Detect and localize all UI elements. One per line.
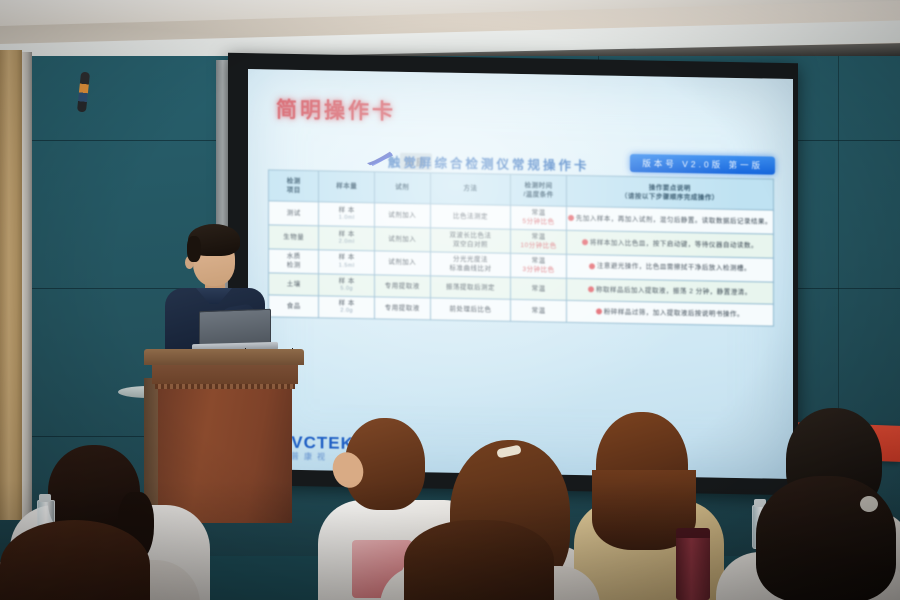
col-notes: 操作要点说明（请按以下步骤顺序完成操作） bbox=[566, 175, 773, 210]
col-reagent: 试剂 bbox=[375, 172, 431, 204]
table-cell: 专用提取液 bbox=[375, 297, 431, 320]
table-cell: 分光光度法标准曲线比对 bbox=[430, 252, 511, 277]
table-cell: 试剂加入 bbox=[375, 251, 431, 276]
table-cell: 土壤 bbox=[269, 272, 319, 295]
table-cell: 常温 bbox=[511, 299, 567, 322]
table-cell: 试剂加入 bbox=[375, 227, 431, 252]
table-cell: 水质检测 bbox=[269, 249, 319, 274]
col-time: 检测时间/温度条件 bbox=[511, 174, 567, 206]
table-cell: 食品 bbox=[269, 295, 319, 318]
table-cell: 振荡提取后测定 bbox=[430, 275, 511, 299]
table-cell: 常温3分钟比色 bbox=[511, 253, 567, 278]
projection-screen: 简明操作卡 海康 触觉屏综合检测仪常规操作卡 版本号 V2.0版 第一版 检测项… bbox=[248, 69, 793, 479]
table-cell: 常温5分钟比色 bbox=[511, 205, 567, 230]
slide-heading: 触觉屏综合检测仪常规操作卡 bbox=[388, 152, 590, 175]
table-cell: 样 本5.0g bbox=[319, 273, 375, 296]
slide-table: 检测项目 样本量 试剂 方法 检测时间/温度条件 操作要点说明（请按以下步骤顺序… bbox=[268, 169, 774, 327]
podium-body bbox=[158, 388, 292, 523]
slide-title: 简明操作卡 bbox=[276, 94, 396, 126]
podium-neck bbox=[152, 362, 298, 384]
table-cell: 前处理后比色 bbox=[430, 298, 511, 322]
slide-version-badge: 版本号 V2.0版 第一版 bbox=[630, 154, 775, 175]
table-cell: 样 本1.5ml bbox=[319, 249, 375, 274]
col-method: 方法 bbox=[430, 173, 511, 205]
thermos-tumbler-lid bbox=[676, 528, 710, 538]
table-cell: 样 本1.0ml bbox=[319, 202, 375, 227]
table-cell: 试剂加入 bbox=[375, 203, 431, 228]
slide-table-body: 测试样 本1.0ml试剂加入比色法测定常温5分钟比色先加入样本，再加入试剂，混匀… bbox=[269, 201, 774, 327]
water-bottle-cap bbox=[39, 494, 51, 502]
table-cell: 测试 bbox=[269, 201, 319, 226]
col-item: 检测项目 bbox=[269, 170, 319, 202]
table-cell: 常温10分钟比色 bbox=[511, 229, 567, 254]
thermos-tumbler bbox=[676, 534, 710, 600]
table-cell: 双波长比色法双空白对照 bbox=[430, 228, 511, 253]
presentation-room-photo: 实干 简明操作卡 海康 触觉屏综合检测仪常规操作卡 版本号 V2.0版 第一版 … bbox=[0, 0, 900, 600]
table-cell: 粉碎样品过筛，加入提取液后按说明书操作。 bbox=[566, 300, 773, 326]
table-cell: 比色法测定 bbox=[430, 204, 511, 229]
table-cell: 样 本2.0ml bbox=[319, 226, 375, 251]
hair-pin bbox=[860, 496, 878, 512]
wall-edge-strip bbox=[22, 52, 32, 522]
speaker-hair-side bbox=[187, 236, 201, 262]
table-cell: 专用提取液 bbox=[375, 274, 431, 297]
table-cell: 样 本2.0g bbox=[319, 296, 375, 319]
table-cell: 常温 bbox=[511, 277, 567, 300]
table-cell: 生物量 bbox=[269, 225, 319, 250]
col-sample: 样本量 bbox=[319, 171, 375, 203]
podium-top bbox=[144, 349, 304, 365]
wood-trim bbox=[0, 50, 22, 520]
